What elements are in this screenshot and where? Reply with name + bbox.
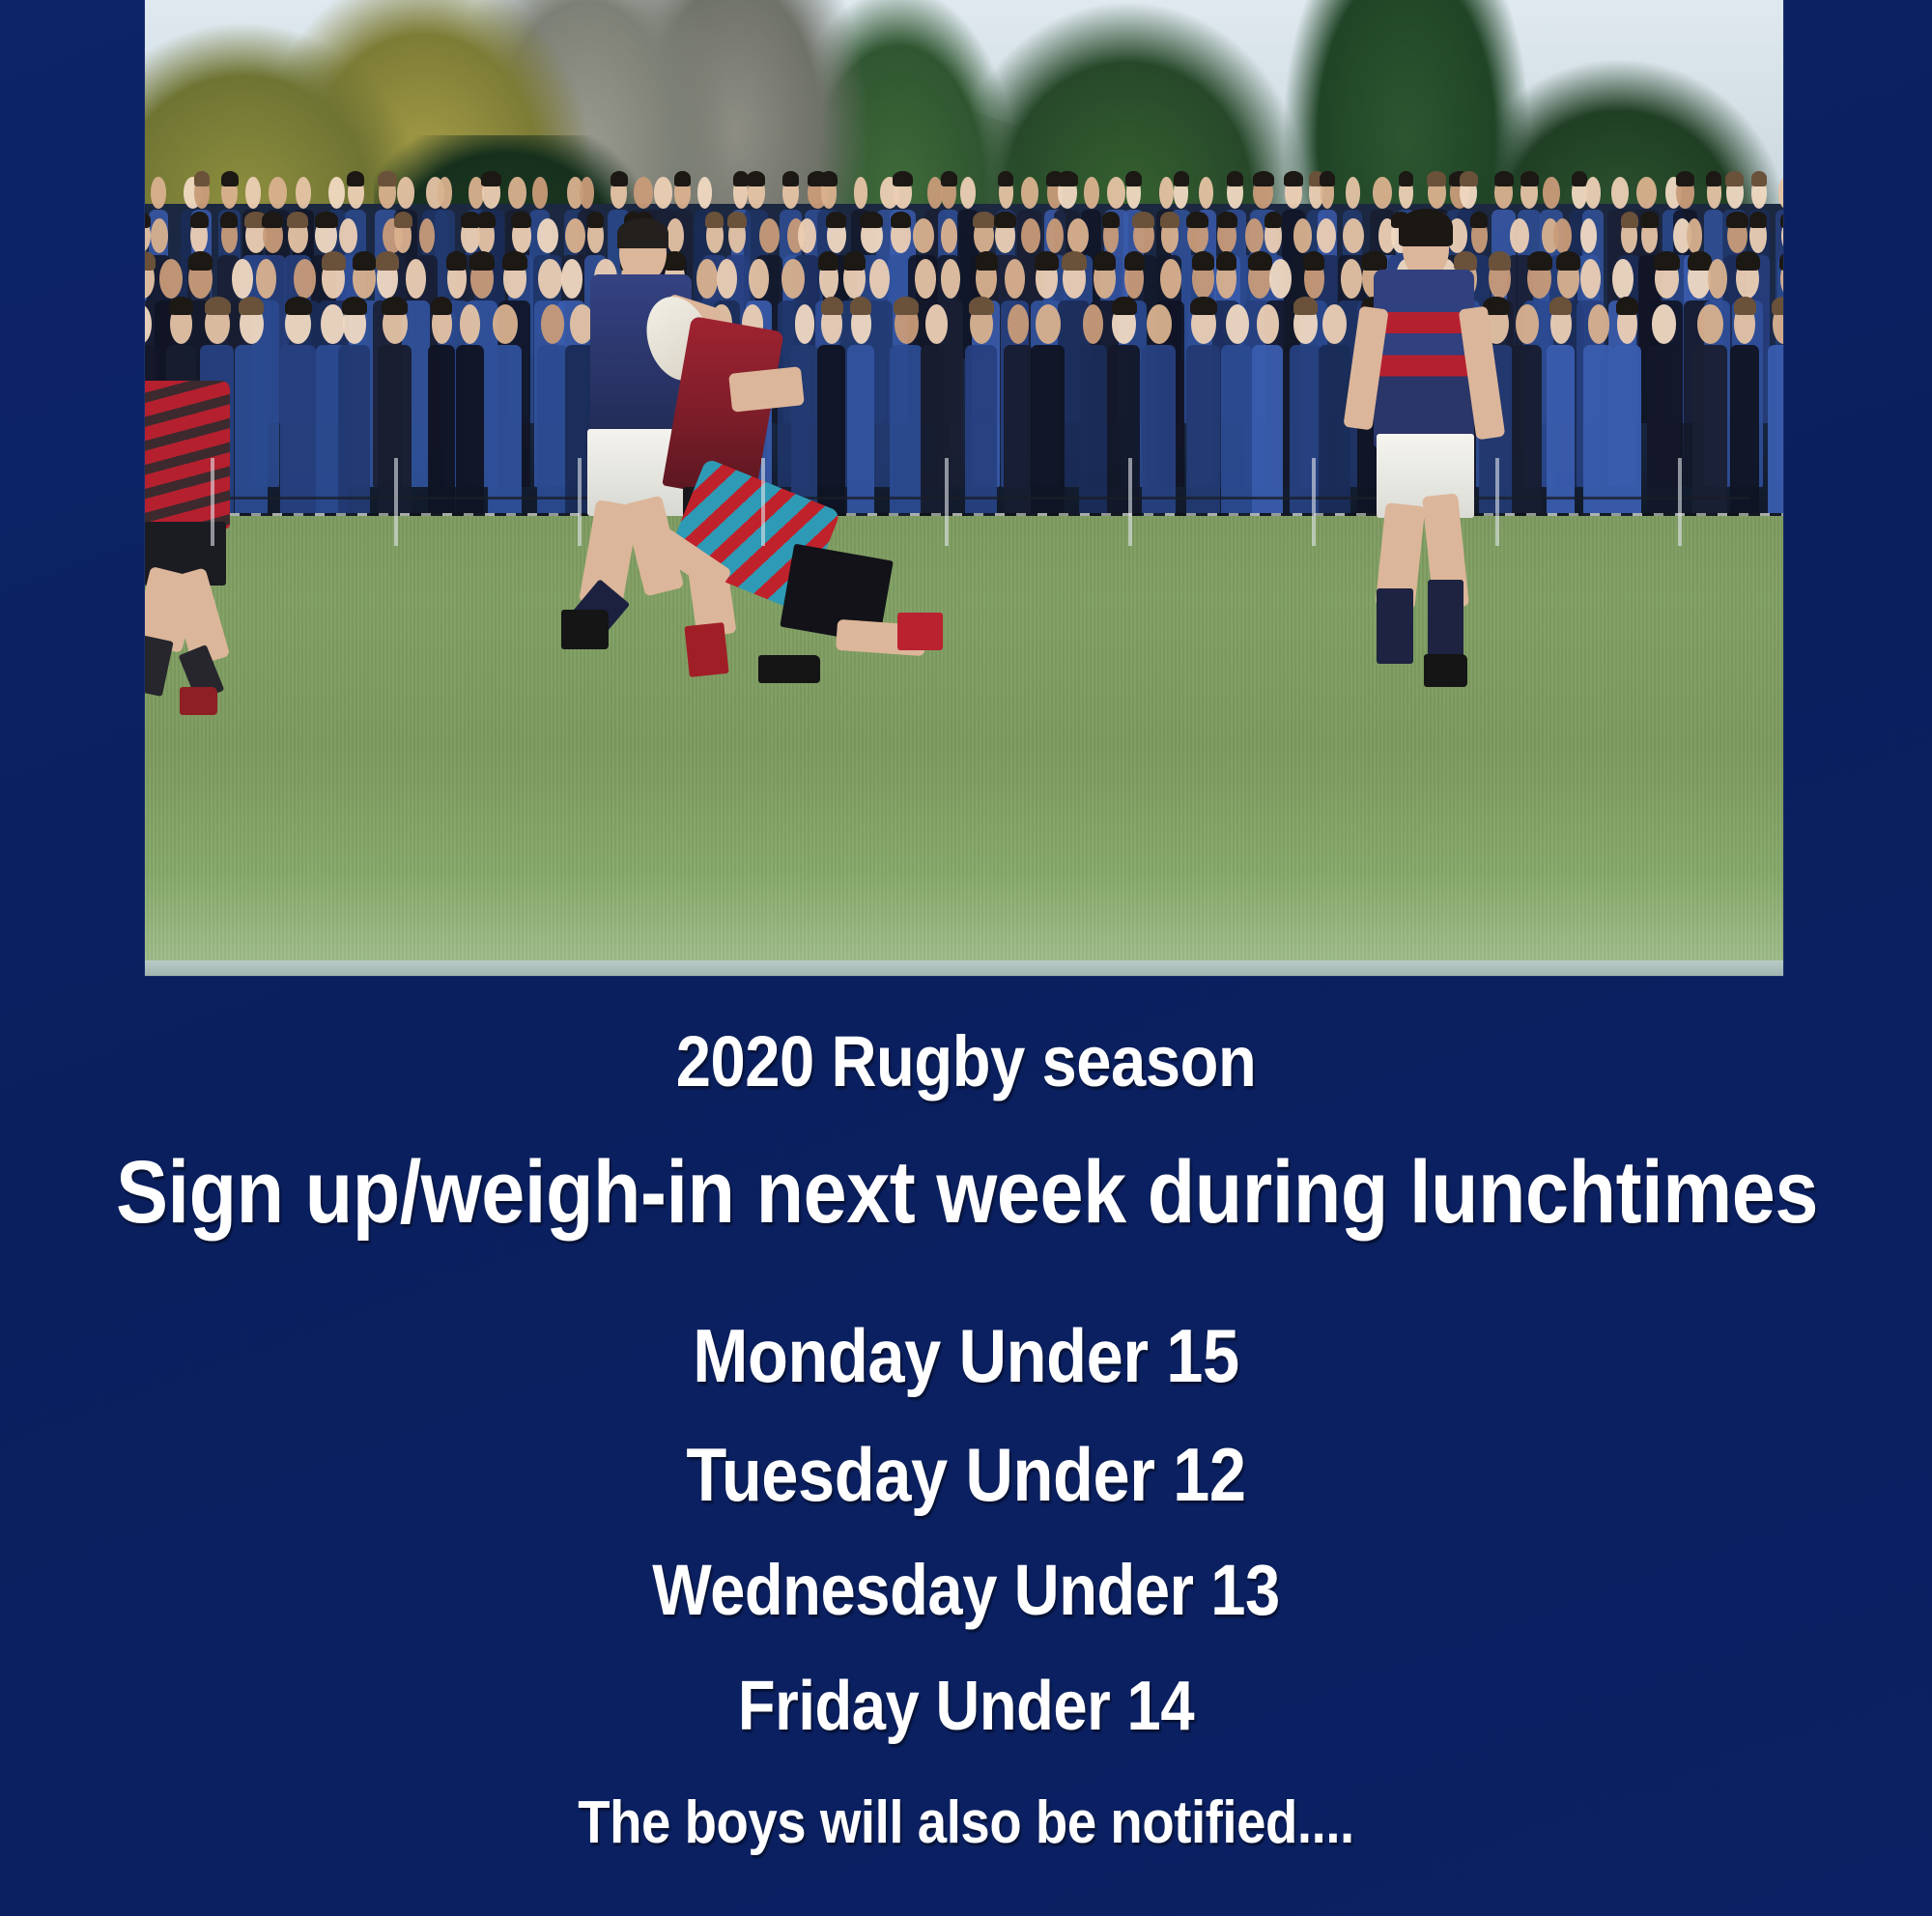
crowd-person-head	[925, 304, 948, 344]
crowd-person	[1692, 345, 1727, 532]
schedule-item-tuesday: Tuesday Under 12	[116, 1435, 1816, 1515]
crowd-person-hair	[287, 212, 308, 228]
crowd-person	[1613, 345, 1641, 532]
crowd-person-hair	[322, 251, 346, 270]
crowd-person-hair	[1125, 171, 1142, 186]
crowd-person-head	[151, 177, 165, 208]
crowd-person-head	[1652, 304, 1677, 344]
touchline-pole	[394, 458, 398, 546]
crowd-person	[488, 345, 522, 532]
crowd-person	[1647, 345, 1681, 532]
crowd-person-hair	[860, 212, 883, 228]
crowd-person-head	[269, 177, 286, 208]
crowd-person-hair	[220, 212, 238, 228]
touchline-pole	[211, 458, 214, 546]
crowd-person-head	[1021, 218, 1040, 253]
crowd-person-hair	[431, 297, 452, 315]
rugby-season-poster: 2020 Rugby season Sign up/weigh-in next …	[0, 0, 1932, 1916]
crowd-person-hair	[1132, 212, 1154, 228]
crowd-person-hair	[1062, 251, 1087, 270]
rugby-match-photo	[145, 0, 1783, 976]
crowd-person-head	[869, 259, 889, 299]
crowd-person-hair	[315, 212, 338, 228]
crowd-person-hair	[1248, 251, 1272, 270]
crowd-person-hair	[353, 251, 377, 270]
crowd-person-hair	[1494, 171, 1514, 186]
crowd-person-head	[1612, 259, 1633, 299]
crowd-person-head	[294, 259, 317, 299]
crowd-person	[1547, 345, 1576, 532]
crowd-person-hair	[1734, 297, 1756, 315]
crowd-person-head	[854, 177, 868, 208]
crowd-person	[965, 345, 997, 532]
crowd-person-head	[1636, 177, 1657, 208]
crowd-person-head	[256, 259, 276, 299]
crowd-person	[338, 345, 370, 532]
crowd-person-hair	[1616, 297, 1637, 315]
crowd-person-hair	[843, 251, 866, 270]
crowd-person-hair	[382, 297, 409, 315]
crowd-person-head	[1708, 259, 1727, 299]
ball-carrier-boot	[561, 610, 609, 648]
crowd-person-head	[913, 218, 934, 253]
crowd-person-hair	[1186, 212, 1208, 228]
right-runner-boot	[1424, 654, 1467, 687]
crowd-person	[428, 345, 455, 532]
crowd-person-hair	[1174, 171, 1189, 186]
crowd-person-hair	[998, 171, 1013, 186]
crowd-person	[1031, 345, 1065, 532]
crowd-person-head	[397, 177, 414, 208]
crowd-person-head	[438, 177, 452, 208]
crowd-person-head	[1697, 304, 1723, 344]
crowd-person-head	[232, 259, 253, 299]
crowd-person-hair	[1427, 171, 1446, 186]
crowd-person-head	[759, 218, 780, 253]
crowd-person-hair	[1264, 212, 1283, 228]
crowd-person-hair	[941, 171, 957, 186]
touchline-pole	[761, 458, 765, 546]
crowd-person-head	[406, 259, 426, 299]
crowd-person-hair	[1676, 171, 1694, 186]
grounded-boot	[758, 655, 819, 683]
crowd-person-head	[941, 218, 958, 253]
player-left-winger	[145, 359, 268, 711]
left-winger-sock-front	[145, 635, 173, 697]
crowd-person-hair	[1124, 251, 1145, 270]
grounded-sock	[897, 613, 942, 650]
crowd-person	[1730, 345, 1759, 532]
crowd-person-hair	[347, 171, 364, 186]
touchline-pole	[1128, 458, 1132, 546]
right-runner-hair	[1399, 209, 1453, 246]
crowd-person-hair	[1227, 171, 1244, 186]
crowd-person-head	[321, 304, 345, 344]
crowd-person-hair	[1057, 171, 1077, 186]
crowd-person-hair	[481, 171, 501, 186]
crowd-person-hair	[1102, 212, 1119, 228]
crowd-person-hair	[1190, 297, 1216, 315]
crowd-person-hair	[1284, 171, 1302, 186]
crowd-person-hair	[1303, 251, 1324, 270]
touchline-pole	[1312, 458, 1316, 546]
crowd-person-hair	[782, 171, 800, 186]
crowd-person-hair	[1527, 251, 1552, 270]
right-runner-sock-back	[1428, 580, 1463, 664]
crowd-person-head	[1373, 177, 1391, 208]
crowd-person-head	[1159, 177, 1174, 208]
crowd-person-hair	[1688, 251, 1712, 270]
crowd-person	[1004, 345, 1033, 532]
crowd-person-hair	[1772, 297, 1783, 315]
crowd-person-hair	[1460, 171, 1478, 186]
crowd-person-head	[1257, 304, 1279, 344]
crowd-person-hair	[674, 171, 691, 186]
crowd-person-head	[1107, 177, 1125, 208]
crowd-person-head	[1585, 177, 1601, 208]
crowd-person-head	[151, 218, 168, 253]
crowd-person-hair	[1549, 297, 1572, 315]
crowd-person-head	[1543, 177, 1560, 208]
crowd-person-hair	[205, 297, 231, 315]
crowd-person	[1221, 345, 1252, 532]
crowd-person-hair	[285, 297, 312, 315]
crowd-person-hair	[469, 251, 495, 270]
crowd-person	[1768, 345, 1783, 532]
left-winger-boot	[180, 687, 218, 715]
crowd-person-hair	[1320, 171, 1335, 186]
spectator-crowd	[145, 204, 1783, 527]
crowd-person-head	[915, 259, 936, 299]
player-grounded	[653, 468, 931, 702]
crowd-person-head	[1778, 177, 1783, 208]
page-title: 2020 Rugby season	[116, 1024, 1816, 1100]
crowd-person-hair	[1572, 171, 1587, 186]
crowd-person-hair	[1640, 212, 1658, 228]
crowd-person-head	[296, 177, 311, 208]
crowd-person-hair	[477, 212, 496, 228]
crowd-person-hair	[1399, 171, 1414, 186]
crowd-person-head	[1687, 218, 1703, 253]
schedule-item-monday: Monday Under 15	[116, 1316, 1816, 1396]
crowd-person-head	[245, 177, 260, 208]
crowd-person-hair	[1520, 171, 1539, 186]
crowd-person-hair	[1556, 251, 1580, 270]
tackler-arm	[728, 366, 804, 413]
crowd-person-hair	[1654, 251, 1679, 270]
crowd-person-hair	[378, 171, 396, 186]
crowd-person-hair	[891, 212, 912, 228]
crowd-person-head	[1083, 304, 1103, 344]
left-winger-jersey	[145, 381, 230, 529]
signup-subtitle: Sign up/weigh-in next week during luncht…	[116, 1146, 1816, 1241]
crowd-person	[280, 345, 315, 532]
crowd-person-hair	[1035, 251, 1059, 270]
crowd-person-hair	[1293, 297, 1318, 315]
rugby-field	[145, 516, 1783, 976]
crowd-person-hair	[994, 212, 1015, 228]
touchline-pole	[945, 458, 949, 546]
crowd-person-hair	[1749, 212, 1768, 228]
crowd-person-hair	[1725, 171, 1744, 186]
crowd-person-hair	[1751, 171, 1768, 186]
crowd-person-hair	[1094, 251, 1116, 270]
crowd-person-hair	[1192, 251, 1215, 270]
crowd-person-hair	[1726, 212, 1747, 228]
crowd-figures	[145, 204, 1783, 527]
crowd-person-hair	[1160, 212, 1179, 228]
crowd-person-head	[697, 177, 712, 208]
crowd-person-hair	[976, 251, 998, 270]
crowd-person-head	[580, 177, 594, 208]
crowd-person-head	[1588, 304, 1610, 344]
crowd-person-hair	[169, 297, 192, 315]
crowd-person-head	[1346, 177, 1360, 208]
crowd-person-hair	[1112, 297, 1137, 315]
crowd-person-head	[1269, 259, 1292, 299]
touchline-pole	[578, 458, 582, 546]
crowd-person-head	[1199, 177, 1213, 208]
crowd-person-head	[493, 304, 518, 344]
poster-footnote: The boys will also be notified....	[116, 1791, 1816, 1855]
crowd-person-hair	[1216, 251, 1237, 270]
crowd-person-hair	[511, 212, 531, 228]
crowd-person	[1079, 345, 1107, 532]
crowd-person-hair	[818, 251, 838, 270]
crowd-person-hair	[376, 251, 399, 270]
crowd-person-head	[1147, 304, 1172, 344]
schedule-item-friday: Friday Under 14	[116, 1670, 1816, 1743]
crowd-person-hair	[221, 171, 239, 186]
crowd-person-hair	[893, 171, 913, 186]
crowd-person-hair	[1706, 171, 1721, 186]
crowd-person-head	[634, 177, 654, 208]
crowd-person-hair	[1217, 212, 1237, 228]
crowd-person-head	[1021, 177, 1038, 208]
crowd-person-head	[1226, 304, 1249, 344]
touchline-pole	[1678, 458, 1682, 546]
crowd-person-hair	[1621, 212, 1638, 228]
crowd-person-hair	[850, 297, 871, 315]
schedule-item-wednesday: Wednesday Under 13	[116, 1553, 1816, 1628]
crowd-person-hair	[973, 212, 995, 228]
crowd-person-hair	[1736, 251, 1760, 270]
crowd-person	[1107, 345, 1139, 532]
crowd-person-head	[460, 304, 480, 344]
crowd-person-head	[1036, 304, 1061, 344]
crowd-person-hair	[894, 297, 919, 315]
crowd-person-head	[960, 177, 976, 208]
crowd-person-hair	[262, 212, 283, 228]
right-runner-jersey	[1374, 270, 1474, 448]
crowd-person	[456, 345, 484, 532]
crowd-person-hair	[190, 212, 209, 228]
crowd-person-hair	[194, 171, 210, 186]
crowd-person-hair	[611, 171, 628, 186]
crowd-person-hair	[239, 297, 264, 315]
crowd-person-head	[1160, 259, 1181, 299]
crowd-person-hair	[502, 251, 527, 270]
crowd-person-hair	[826, 212, 846, 228]
crowd-person-head	[508, 177, 526, 208]
crowd-person-hair	[342, 297, 367, 315]
crowd-person-hair	[1253, 171, 1274, 186]
crowd-person-hair	[747, 171, 765, 186]
crowd-person-head	[532, 177, 547, 208]
crowd-person-head	[1611, 177, 1629, 208]
player-right-runner	[1341, 214, 1521, 683]
crowd-person-head	[654, 177, 673, 208]
crowd-person-hair	[188, 251, 213, 270]
crowd-person-head	[328, 177, 345, 208]
crowd-person	[1142, 345, 1176, 532]
crowd-person-hair	[821, 297, 843, 315]
touchline-pole	[1495, 458, 1499, 546]
crowd-person-head	[159, 259, 183, 299]
crowd-person	[1252, 345, 1283, 532]
ball-carrier-hair	[617, 218, 668, 248]
crowd-person	[1290, 345, 1321, 532]
crowd-person-hair	[969, 297, 994, 315]
crowd-person-head	[1008, 304, 1029, 344]
crowd-person-hair	[820, 171, 838, 186]
crowd-person-hair	[394, 212, 412, 228]
crowd-person-hair	[446, 251, 467, 270]
crowd-person-head	[1084, 177, 1099, 208]
right-runner-sock-front	[1377, 588, 1412, 664]
crowd-person	[1186, 345, 1220, 532]
crowd-person	[1583, 345, 1613, 532]
poster-text-block: 2020 Rugby season Sign up/weigh-in next …	[0, 974, 1932, 1916]
